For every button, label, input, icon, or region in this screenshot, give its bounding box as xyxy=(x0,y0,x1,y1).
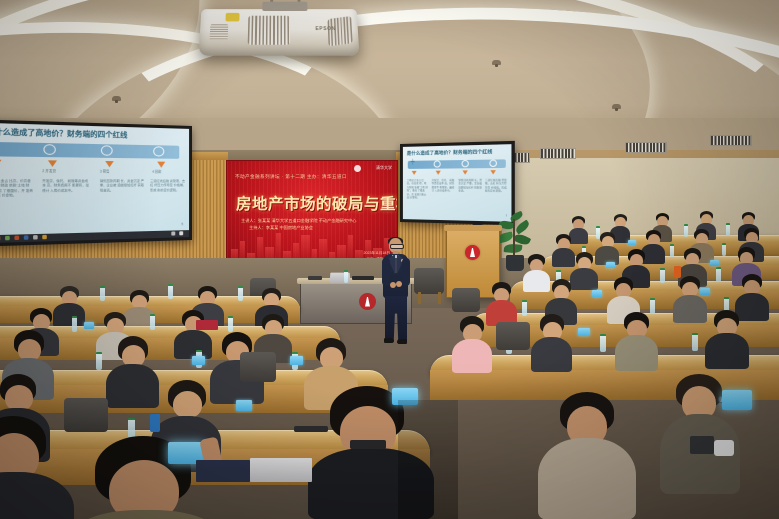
podium-emblem-icon xyxy=(465,245,480,260)
smartphone[interactable] xyxy=(628,240,636,245)
banner-main-title: 房地产市场的破局与重构 xyxy=(236,192,391,214)
smartphone[interactable] xyxy=(578,328,590,336)
right-slide: 是什么造成了高地价？财务端的四个红线 土地出让金占 比高，价高者 得，地方财政 … xyxy=(403,144,512,222)
banner-organizer-logo: 清华大学 xyxy=(376,165,392,171)
slide-step-icon xyxy=(153,146,164,156)
projector-lens-icon xyxy=(225,13,239,22)
banner-subtitle-2: 主持人：李某某 中国房地产业协会 xyxy=(249,225,387,231)
slide-step-icon xyxy=(101,145,113,156)
right-slide-body-col: 销售回款周期 长，资金沉淀 严重，企业被 迫继续加杠杆 获取现金流。 xyxy=(458,179,482,211)
banner-top-line: 不动产金融系列讲坛 · 第十二期 主办：清华五道口 xyxy=(235,174,391,180)
slide-step-icon xyxy=(43,144,55,155)
stage-equipment xyxy=(308,276,322,280)
chair-leg xyxy=(438,292,441,304)
red-notebook xyxy=(196,320,218,330)
left-slide-body-col: 开发贷、信托、 前融等资金成本 高，财务费用不 断累积，最终计 入房价成本中。 xyxy=(42,179,89,231)
chair-leg xyxy=(418,292,421,304)
aisle xyxy=(398,400,458,519)
projector-vent-icon xyxy=(248,16,290,45)
lecture-hall-photo: EPSON 是什么造成了高地价？财务端的四个红线 xyxy=(0,0,779,519)
audience-chair[interactable] xyxy=(452,288,480,312)
smartphone[interactable] xyxy=(606,262,615,268)
ac-vent xyxy=(625,142,667,153)
right-slide-title: 是什么造成了高地价？财务端的四个红线 xyxy=(407,149,508,157)
smartphone[interactable] xyxy=(192,356,205,365)
ceiling-projector: EPSON xyxy=(199,9,360,56)
left-slide-step-label: 3 预售 xyxy=(100,169,142,174)
eyeglasses-icon xyxy=(390,244,404,249)
left-slide-step-label: 2 开发贷 xyxy=(42,169,87,174)
right-slide-body-col: 开发贷、信托、 前融等资金成本 高，财务费用不 断累积，最终计 入房价成本中。 xyxy=(432,179,456,210)
paper-cup xyxy=(674,266,681,278)
stage-microphone xyxy=(352,276,374,280)
event-backdrop-banner: 清华大学 不动产金融系列讲坛 · 第十二期 主办：清华五道口 房地产市场的破局与… xyxy=(226,160,398,266)
smartphone[interactable] xyxy=(236,400,252,411)
smoke-detector-icon xyxy=(612,104,621,109)
beverage-can xyxy=(150,414,160,432)
left-slide: 是什么造成了高地价？财务端的四个红线 1 拿地 2 开发贷 3 预售 4 回款 … xyxy=(0,123,189,244)
ac-vent xyxy=(540,148,576,159)
smartphone[interactable] xyxy=(592,290,602,297)
desk-power-outlet[interactable] xyxy=(690,436,714,454)
audience-chair[interactable] xyxy=(496,322,530,350)
smartphone[interactable] xyxy=(290,356,303,365)
left-slide-page-number: 5 xyxy=(181,222,183,227)
remote-device xyxy=(350,440,386,449)
smartphone-raised[interactable] xyxy=(722,390,752,410)
left-slide-body-col: 三道红线后融 资受限，去杠 杆压力传导至 价格端，形成 新的定价逻辑。 xyxy=(150,179,186,228)
notebook xyxy=(196,460,250,482)
right-slide-body-col: 三道红线后融 资受限，去杠 杆压力传导至 价格端，形成 新的定价逻辑。 xyxy=(485,179,507,211)
power-adapter xyxy=(714,440,734,456)
table-emblem-icon xyxy=(359,293,376,310)
left-slide-body-col: 销售回款周期 长，资金沉淀 严重，企业被 迫继续加杠杆 获取现金流。 xyxy=(100,179,144,229)
phone-on-desk xyxy=(294,426,328,432)
speaker-trousers xyxy=(385,296,407,340)
banner-subtitle-1: 主讲人：张某某 清华大学五道口金融学院 不动产金融研究中心 xyxy=(241,217,387,224)
plant-pot xyxy=(506,255,524,271)
stage-chair[interactable] xyxy=(414,268,444,294)
projector-brand-label: EPSON xyxy=(315,26,336,32)
left-slide-body-col: 土地出让金占 比高，价高者 得，地方财政 依赖“土地 财政”，推高 了楼面价，开… xyxy=(0,179,33,232)
smartphone[interactable] xyxy=(84,322,94,329)
smoke-detector-icon xyxy=(492,60,501,65)
smartphone[interactable] xyxy=(710,260,719,266)
smoke-detector-icon xyxy=(112,96,121,101)
smartphone[interactable] xyxy=(700,288,710,295)
left-slide-title: 是什么造成了高地价？财务端的四个红线 xyxy=(0,126,186,142)
audience-chair[interactable] xyxy=(240,352,276,382)
banner-logo-icon xyxy=(354,165,361,172)
left-slide-step-label: 1 拿地 xyxy=(0,169,33,174)
audience-chair[interactable] xyxy=(64,398,108,432)
left-slide-step-label: 4 回款 xyxy=(152,170,188,175)
speaker-presenter xyxy=(381,238,411,348)
left-projection-screen[interactable]: 是什么造成了高地价？财务端的四个红线 1 拿地 2 开发贷 3 预售 4 回款 … xyxy=(0,119,192,247)
laptop[interactable] xyxy=(250,458,312,482)
ac-vent xyxy=(710,135,752,146)
right-slide-body-col: 土地出让金占 比高，价高者 得，地方财政 依赖“土地 财政”，推高 了楼面价，开… xyxy=(407,179,429,210)
